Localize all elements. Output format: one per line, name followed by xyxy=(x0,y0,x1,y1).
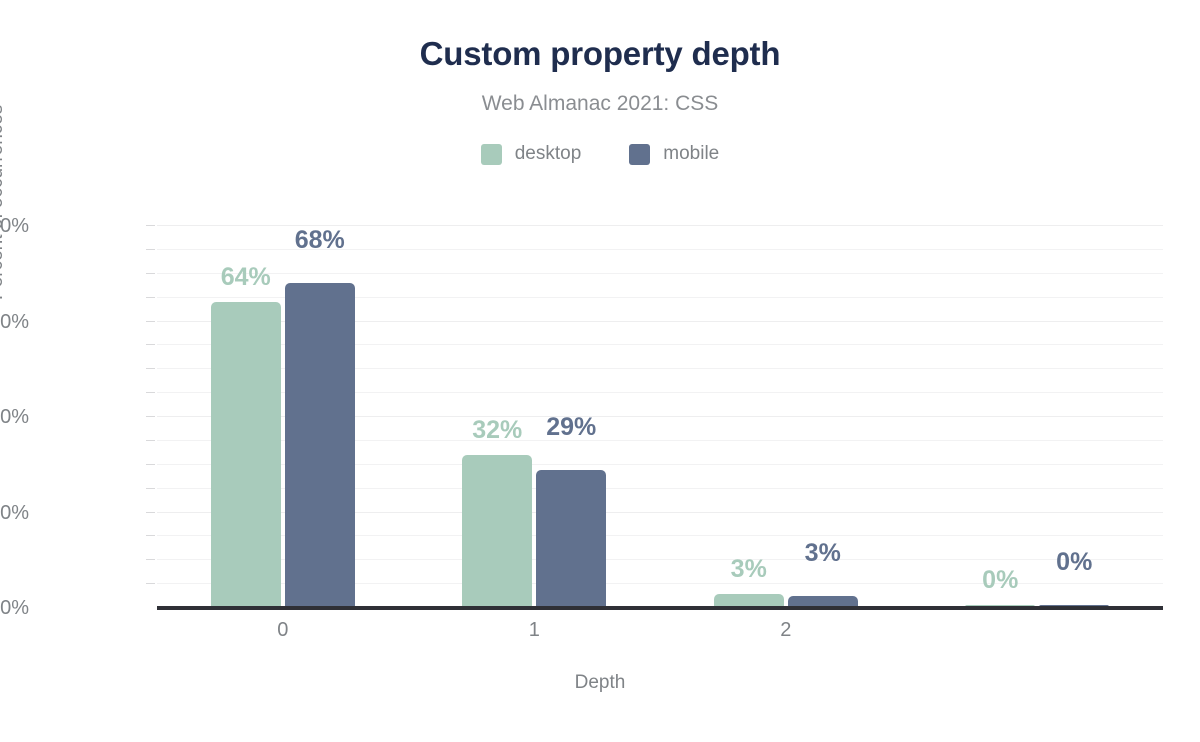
bar-mobile-0[interactable] xyxy=(285,283,355,608)
y-axis-ticklabel: 60% xyxy=(0,312,29,332)
y-axis-tickmark xyxy=(146,416,155,417)
chart-subtitle: Web Almanac 2021: CSS xyxy=(0,90,1200,118)
bar-mobile-1[interactable] xyxy=(536,470,606,608)
y-axis-tickmark xyxy=(146,273,155,274)
bar-group: 32%29% xyxy=(409,207,661,608)
y-axis-tickmark xyxy=(146,559,155,560)
x-axis-ticklabel: 0 xyxy=(243,619,323,641)
x-axis-title: Depth xyxy=(0,672,1200,694)
plot-area: 64%68%32%29%3%3%0%0% 012 xyxy=(157,207,1163,608)
y-axis-tickmark xyxy=(146,225,155,226)
y-axis-title: Percent of occurrences xyxy=(0,105,8,300)
legend-label-desktop: desktop xyxy=(515,143,582,165)
y-axis-tickmark xyxy=(146,344,155,345)
y-axis-tickmark xyxy=(146,368,155,369)
bar-value-label-mobile-3: 0% xyxy=(1021,549,1127,575)
bar-value-label-mobile-0: 68% xyxy=(267,227,373,253)
bar-desktop-0[interactable] xyxy=(211,302,281,608)
chart-legend: desktop mobile xyxy=(0,143,1200,165)
y-axis-tickmark xyxy=(146,512,155,513)
y-axis-tickmark xyxy=(146,321,155,322)
y-axis-tickmark xyxy=(146,249,155,250)
bar-group: 3%3% xyxy=(660,207,912,608)
y-axis-ticklabel: 0% xyxy=(0,598,29,618)
chart-title: Custom property depth xyxy=(0,32,1200,76)
y-axis-tickmark xyxy=(146,488,155,489)
bar-group: 0%0% xyxy=(912,207,1164,608)
legend-swatch-desktop xyxy=(481,144,502,165)
y-axis-ticklabel: 20% xyxy=(0,503,29,523)
bar-desktop-1[interactable] xyxy=(462,455,532,608)
y-axis-tickmark xyxy=(146,583,155,584)
y-axis-tickmark xyxy=(146,535,155,536)
chart-figure: Custom property depth Web Almanac 2021: … xyxy=(0,0,1200,742)
bar-value-label-mobile-2: 3% xyxy=(770,540,876,566)
x-axis-ticklabel: 2 xyxy=(746,619,826,641)
bar-value-label-desktop-0: 64% xyxy=(193,264,299,290)
legend-swatch-mobile xyxy=(629,144,650,165)
bar-group: 64%68% xyxy=(157,207,409,608)
legend-label-mobile: mobile xyxy=(663,143,719,165)
x-axis-ticklabel: 1 xyxy=(494,619,574,641)
bar-value-label-mobile-1: 29% xyxy=(518,414,624,440)
x-axis-line xyxy=(157,606,1163,610)
y-axis-tickmark xyxy=(146,392,155,393)
y-axis-tickmark xyxy=(146,464,155,465)
y-axis-ticklabel: 80% xyxy=(0,216,29,236)
y-axis-tickmark xyxy=(146,440,155,441)
legend-item-mobile[interactable]: mobile xyxy=(629,143,719,165)
legend-item-desktop[interactable]: desktop xyxy=(481,143,582,165)
y-axis-tickmark xyxy=(146,297,155,298)
y-axis-ticklabel: 40% xyxy=(0,407,29,427)
